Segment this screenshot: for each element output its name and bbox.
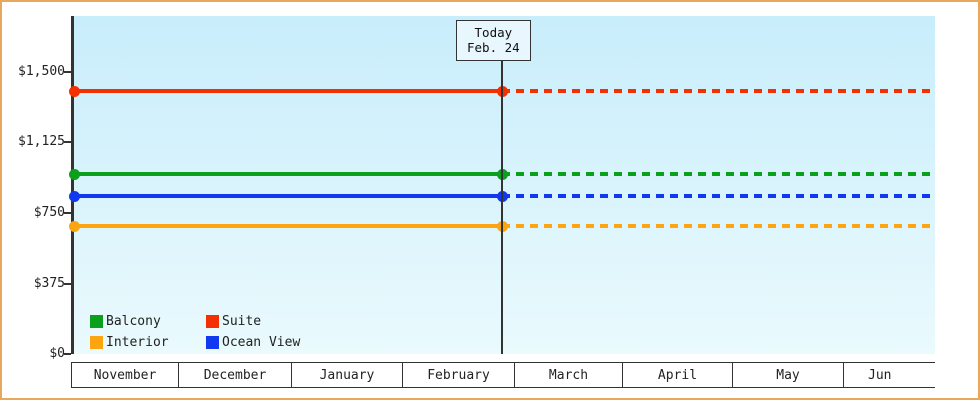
series-line-interior-historical: [74, 224, 502, 228]
y-axis-tick-mark: [64, 353, 71, 355]
y-axis-tick-mark: [64, 283, 71, 285]
y-axis-tick-mark: [64, 141, 71, 143]
plot-area: [74, 16, 935, 354]
y-axis-tick-mark: [64, 212, 71, 214]
series-line-ocean-view-historical: [74, 194, 502, 198]
y-axis-tick-375: $375: [2, 277, 74, 291]
y-axis-tick-mark: [64, 71, 71, 73]
price-trend-chart: $1,500 $1,125 $750 $375 $0 Today Feb. 24: [0, 0, 980, 400]
legend-label: Suite: [222, 311, 261, 332]
x-axis-cell-december: December: [179, 363, 292, 387]
x-axis-cell-february: February: [403, 363, 515, 387]
x-axis-cell-may: May: [733, 363, 844, 387]
x-axis-cell-november: November: [71, 363, 179, 387]
series-marker-ocean-view-start: [69, 191, 80, 202]
legend-item-balcony[interactable]: Balcony: [90, 311, 194, 332]
series-line-suite-historical: [74, 89, 502, 93]
y-axis-tick-0: $0: [2, 347, 74, 361]
legend-swatch-icon: [90, 336, 103, 349]
x-axis-cell-june: Jun: [844, 363, 935, 387]
legend-item-suite[interactable]: Suite: [206, 311, 300, 332]
series-line-interior-forecast: [502, 224, 935, 228]
x-axis-cell-april: April: [623, 363, 733, 387]
legend-item-interior[interactable]: Interior: [90, 332, 194, 353]
series-line-balcony-forecast: [502, 172, 935, 176]
series-line-suite-forecast: [502, 89, 935, 93]
today-annotation-line2: Feb. 24: [467, 40, 520, 55]
today-annotation-line1: Today: [467, 25, 520, 40]
legend-label: Balcony: [106, 311, 161, 332]
x-axis-cell-march: March: [515, 363, 623, 387]
x-axis-cell-january: January: [292, 363, 403, 387]
series-marker-suite-start: [69, 86, 80, 97]
today-marker-line: [501, 59, 503, 354]
y-axis-tick-1125: $1,125: [2, 135, 74, 149]
series-line-balcony-historical: [74, 172, 502, 176]
y-axis-tick-1500: $1,500: [2, 65, 74, 79]
x-axis-month-strip: November December January February March…: [71, 362, 935, 388]
series-line-ocean-view-forecast: [502, 194, 935, 198]
legend-swatch-icon: [206, 315, 219, 328]
today-annotation-box: Today Feb. 24: [456, 20, 531, 61]
legend-label: Ocean View: [222, 332, 300, 353]
legend-swatch-icon: [206, 336, 219, 349]
legend-label: Interior: [106, 332, 169, 353]
y-axis-tick-750: $750: [2, 206, 74, 220]
legend-item-ocean-view[interactable]: Ocean View: [206, 332, 300, 353]
chart-legend: Balcony Suite Interior Ocean View: [90, 311, 300, 353]
legend-swatch-icon: [90, 315, 103, 328]
